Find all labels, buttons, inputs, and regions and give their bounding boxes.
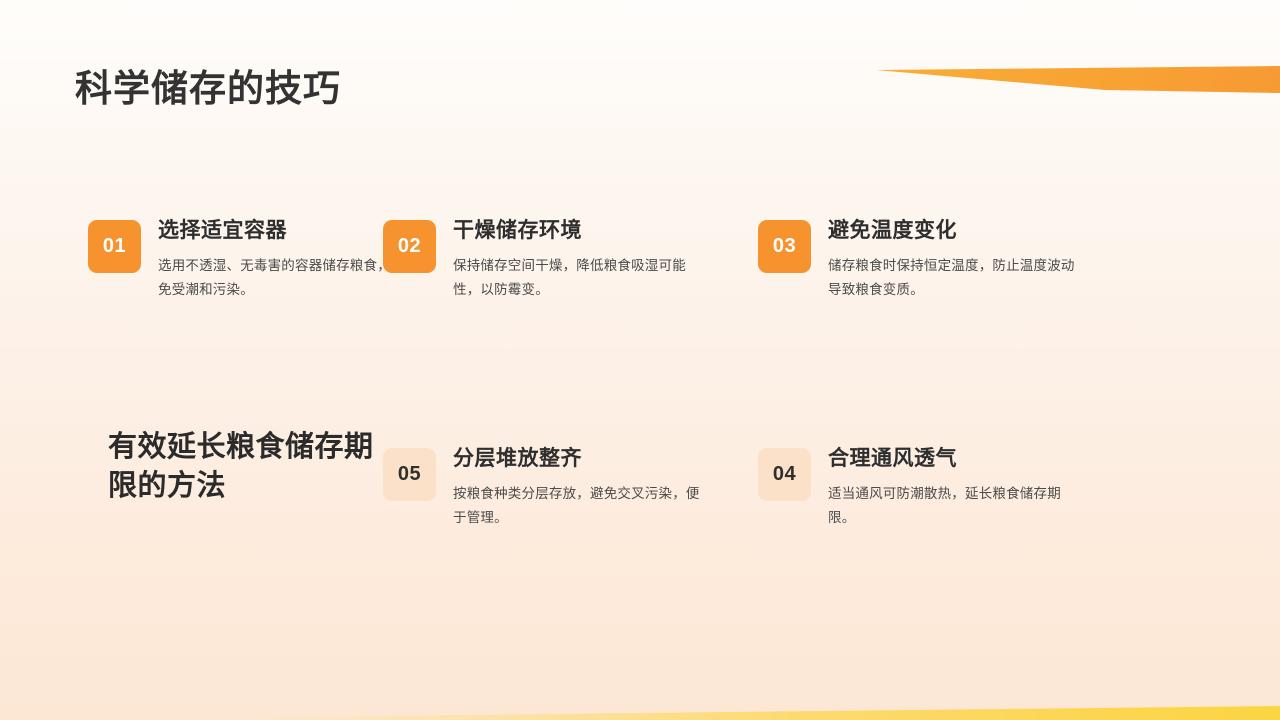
tip-title-04: 合理通风透气 bbox=[828, 446, 1078, 471]
tip-title-02: 干燥储存环境 bbox=[453, 218, 703, 243]
slide-canvas: 科学储存的技巧 01 选择适宜容器 选用不透湿、无毒害的容器储存粮食，避免受潮和… bbox=[0, 0, 1280, 720]
tip-number-badge-03: 03 bbox=[758, 220, 811, 273]
tip-text-block-02: 干燥储存环境 保持储存空间干燥，降低粮食吸湿可能性，以防霉变。 bbox=[436, 218, 703, 301]
tip-title-01: 选择适宜容器 bbox=[158, 218, 408, 243]
tip-card-05[interactable]: 05 分层堆放整齐 按粮食种类分层存放，避免交叉污染，便于管理。 bbox=[375, 446, 750, 529]
tip-description-02: 保持储存空间干燥，降低粮食吸湿可能性，以防霉变。 bbox=[453, 254, 703, 301]
page-title: 科学储存的技巧 bbox=[75, 58, 341, 112]
tip-number-badge-02: 02 bbox=[383, 220, 436, 273]
tip-title-03: 避免温度变化 bbox=[828, 218, 1078, 243]
bottom-yellow-band-decoration bbox=[0, 694, 1280, 720]
tip-description-03: 储存粮食时保持恒定温度，防止温度波动导致粮食变质。 bbox=[828, 254, 1078, 301]
tip-card-03[interactable]: 03 避免温度变化 储存粮食时保持恒定温度，防止温度波动导致粮食变质。 bbox=[750, 218, 1125, 301]
tip-text-block-01: 选择适宜容器 选用不透湿、无毒害的容器储存粮食，避免受潮和污染。 bbox=[141, 218, 408, 301]
tip-description-05: 按粮食种类分层存放，避免交叉污染，便于管理。 bbox=[453, 482, 703, 529]
tip-card-01[interactable]: 01 选择适宜容器 选用不透湿、无毒害的容器储存粮食，避免受潮和污染。 bbox=[0, 218, 375, 301]
tip-number-badge-01: 01 bbox=[88, 220, 141, 273]
tip-text-block-05: 分层堆放整齐 按粮食种类分层存放，避免交叉污染，便于管理。 bbox=[436, 446, 703, 529]
tip-card-04[interactable]: 04 合理通风透气 适当通风可防潮散热，延长粮食储存期限。 bbox=[750, 446, 1125, 529]
tips-row-two: 有效延长粮食储存期限的方法 05 分层堆放整齐 按粮食种类分层存放，避免交叉污染… bbox=[0, 446, 1280, 529]
tip-card-02[interactable]: 02 干燥储存环境 保持储存空间干燥，降低粮食吸湿可能性，以防霉变。 bbox=[375, 218, 750, 301]
tip-number-badge-04: 04 bbox=[758, 448, 811, 501]
tip-description-04: 适当通风可防潮散热，延长粮食储存期限。 bbox=[828, 482, 1078, 529]
tip-text-block-03: 避免温度变化 储存粮食时保持恒定温度，防止温度波动导致粮食变质。 bbox=[811, 218, 1078, 301]
section-heading: 有效延长粮食储存期限的方法 bbox=[0, 428, 375, 529]
tip-number-badge-05: 05 bbox=[383, 448, 436, 501]
tip-text-block-04: 合理通风透气 适当通风可防潮散热，延长粮食储存期限。 bbox=[811, 446, 1078, 529]
tip-description-01: 选用不透湿、无毒害的容器储存粮食，避免受潮和污染。 bbox=[158, 254, 408, 301]
tips-row-one: 01 选择适宜容器 选用不透湿、无毒害的容器储存粮食，避免受潮和污染。 02 干… bbox=[0, 218, 1280, 301]
tip-title-05: 分层堆放整齐 bbox=[453, 446, 703, 471]
